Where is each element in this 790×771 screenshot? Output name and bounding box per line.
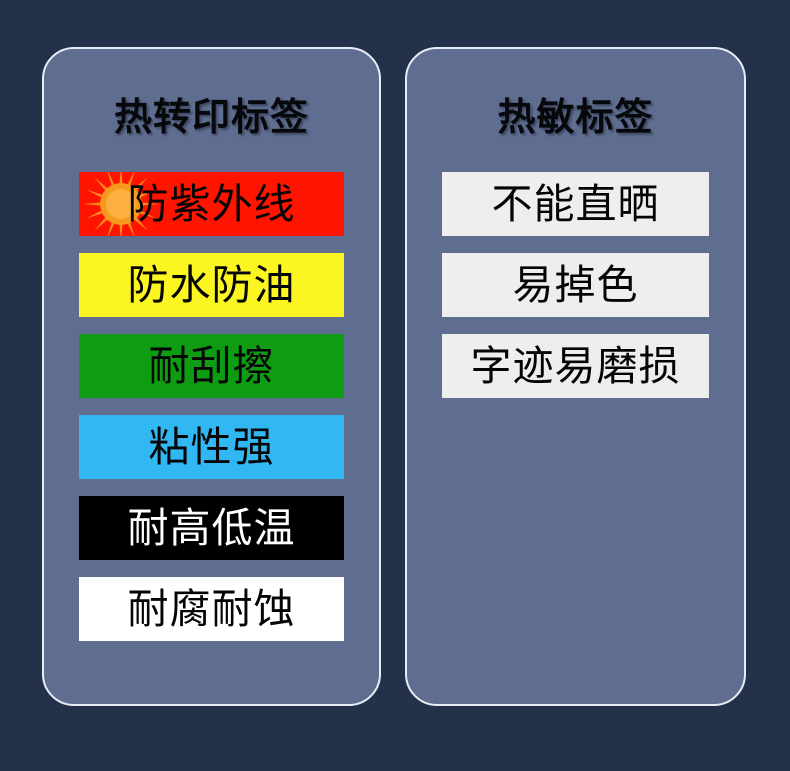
label-chip-text: 字迹易磨损 (471, 346, 681, 387)
label-chip-text: 耐高低温 (128, 508, 296, 549)
label-chip-text: 耐腐耐蚀 (128, 589, 296, 630)
label-chip-text: 防紫外线 (128, 184, 296, 225)
label-chip[interactable]: 不能直晒 (442, 172, 709, 236)
card-direct-thermal: 热敏标签 不能直晒易掉色字迹易磨损 (405, 47, 746, 706)
label-chip[interactable]: 粘性强 (79, 415, 344, 479)
label-chip[interactable]: 字迹易磨损 (442, 334, 709, 398)
label-chip-text: 不能直晒 (492, 184, 660, 225)
label-chip-text: 易掉色 (513, 265, 639, 306)
label-chip-text: 粘性强 (149, 427, 275, 468)
card-direct-thermal-label-stack: 不能直晒易掉色字迹易磨损 (407, 172, 744, 415)
label-chip[interactable]: 耐刮擦 (79, 334, 344, 398)
card-thermal-transfer-label-stack: 防紫外线防水防油耐刮擦粘性强耐高低温耐腐耐蚀 (44, 172, 379, 658)
label-chip-text: 耐刮擦 (149, 346, 275, 387)
label-chip[interactable]: 易掉色 (442, 253, 709, 317)
label-comparison-root: 热转印标签 防紫外线防水防油耐刮擦粘性强耐高低温耐腐耐蚀 热敏标签 不能直晒易掉… (0, 0, 790, 771)
label-chip-text: 防水防油 (128, 265, 296, 306)
label-chip[interactable]: 耐腐耐蚀 (79, 577, 344, 641)
card-thermal-transfer: 热转印标签 防紫外线防水防油耐刮擦粘性强耐高低温耐腐耐蚀 (42, 47, 381, 706)
label-chip[interactable]: 耐高低温 (79, 496, 344, 560)
card-direct-thermal-title: 热敏标签 (407, 99, 744, 137)
card-thermal-transfer-title: 热转印标签 (44, 99, 379, 137)
label-chip[interactable]: 防紫外线 (79, 172, 344, 236)
label-chip[interactable]: 防水防油 (79, 253, 344, 317)
